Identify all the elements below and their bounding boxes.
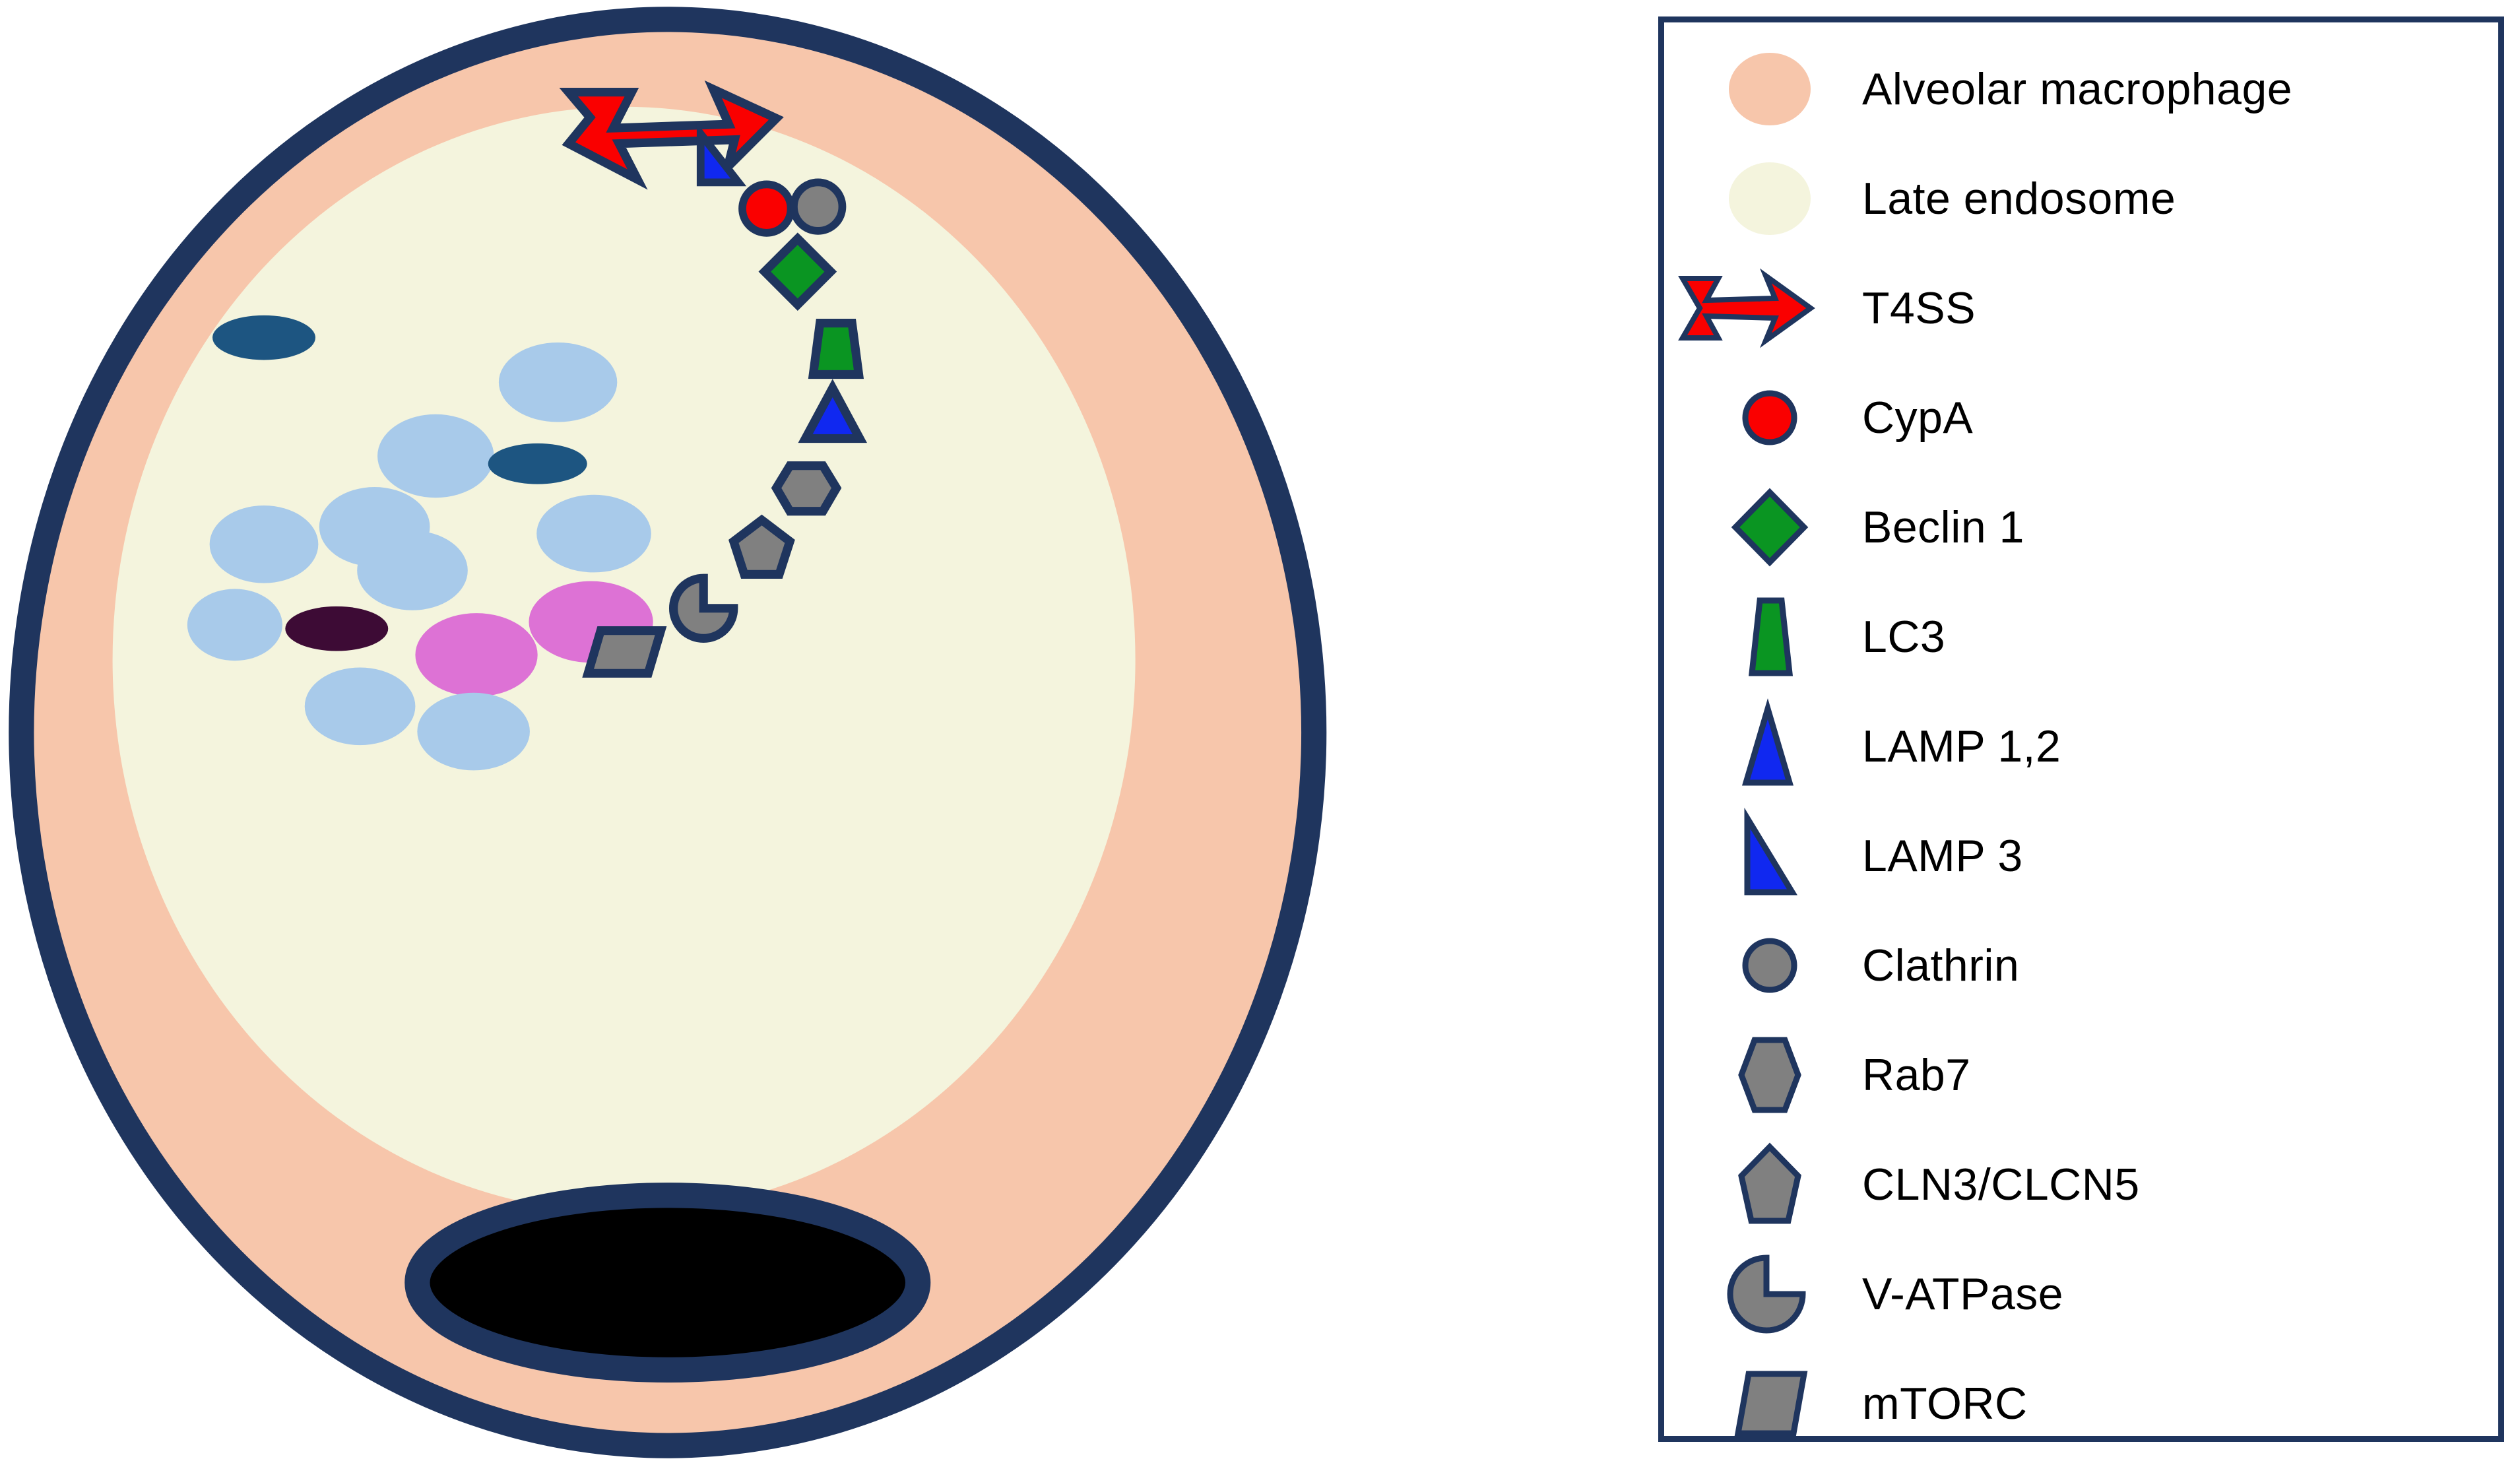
legend-label: V-ATPase [1862,1272,2063,1317]
intraluminal-vesicle [417,693,530,771]
trapezoid-green-icon [813,323,858,375]
legend-label: mTORC [1862,1381,2028,1426]
pentagon-gray-icon [1664,1130,1862,1239]
parallelogram-icon [1664,1349,1862,1458]
legend-label: Late endosome [1862,176,2176,221]
parallelogram-icon [588,631,661,674]
legend-label: Clathrin [1862,943,2019,988]
circle-red-icon [1664,363,1862,472]
legend-label: LAMP 1,2 [1862,724,2061,769]
legend-label: CypA [1862,395,1973,440]
legend-label: CLN3/CLCN5 [1862,1162,2140,1207]
trapezoid-green-icon [1664,582,1862,692]
pacman-gray-icon [1664,1239,1862,1349]
intraluminal-vesicle-purple [285,606,388,651]
circle-gray-icon [1664,911,1862,1020]
legend-label: T4SS [1862,286,1976,331]
circle-red-icon [742,184,791,233]
intraluminal-vesicle [536,495,651,573]
legend-item-beclin-1[interactable]: Beclin 1 [1664,472,2498,582]
ellipse-cream-icon [1664,144,1862,253]
intraluminal-vesicle-dark [488,443,587,484]
right-triangle-icon [1664,801,1862,911]
legend-item-late-endosome[interactable]: Late endosome [1664,144,2498,253]
intraluminal-vesicle [357,531,468,610]
hexagon-gray-icon [1664,1020,1862,1130]
intraluminal-vesicle-magenta [415,613,537,696]
diamond-green-icon [1664,472,1862,582]
intraluminal-vesicle [377,414,494,498]
circle-gray-icon [794,182,843,231]
cell-diagram-panel [0,0,1650,1465]
legend-item-cln3-clcn5[interactable]: CLN3/CLCN5 [1664,1130,2498,1239]
legend-label: Beclin 1 [1862,505,2024,550]
legend-item-lamp-3[interactable]: LAMP 3 [1664,801,2498,911]
legend-item-rab7[interactable]: Rab7 [1664,1020,2498,1130]
legend-label: Alveolar macrophage [1862,67,2292,112]
hexagon-gray-icon [776,466,836,511]
legend-label: Rab7 [1862,1053,1971,1097]
legend-item-lamp-1-2[interactable]: LAMP 1,2 [1664,692,2498,801]
cell-diagram-svg [0,0,1650,1465]
triangle-blue-icon [1664,692,1862,801]
legend-item-t4ss[interactable]: T4SS [1664,253,2498,363]
intraluminal-vesicle [210,505,319,583]
legend-item-lc3[interactable]: LC3 [1664,582,2498,692]
legend-label: LC3 [1862,614,1945,659]
nucleus [417,1195,918,1370]
legend-item-clathrin[interactable]: Clathrin [1664,911,2498,1020]
legend-item-mtorc[interactable]: mTORC [1664,1349,2498,1458]
ellipse-peach-icon [1664,34,1862,144]
legend-item-alveolar-macrophage[interactable]: Alveolar macrophage [1664,34,2498,144]
intraluminal-vesicle [305,667,416,745]
intraluminal-vesicle [499,342,617,422]
intraluminal-vesicle-dark [212,315,315,360]
legend-label: LAMP 3 [1862,833,2023,878]
arrow-icon [1664,253,1862,363]
figure-root: Alveolar macrophage Late endosome T4SS C… [0,0,2520,1465]
intraluminal-vesicle [187,589,282,661]
legend-item-v-atpase[interactable]: V-ATPase [1664,1239,2498,1349]
legend-box: Alveolar macrophage Late endosome T4SS C… [1658,16,2504,1442]
legend-item-cypa[interactable]: CypA [1664,363,2498,472]
